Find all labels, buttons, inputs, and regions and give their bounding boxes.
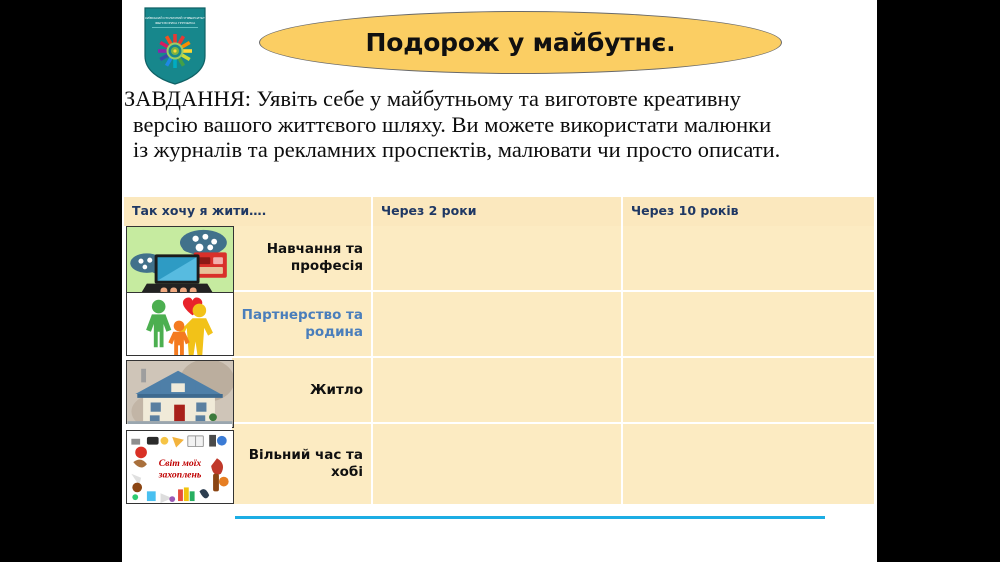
university-logo: КИЇВСЬКИЙ СТОЛИЧНИЙ УНІВЕРСИТЕТ ІМЕНІ БО… [142, 6, 208, 86]
svg-text:захоплень: захоплень [158, 470, 202, 481]
row-1-in-10-years[interactable] [623, 292, 874, 358]
table-row: Світ моїх захоплень Вільний час та хобі [124, 424, 874, 506]
row-0-in-2-years[interactable] [373, 226, 623, 292]
house-icon [127, 361, 233, 427]
hobby-collage-thumbnail: Світ моїх захоплень [126, 430, 234, 504]
house-thumbnail [126, 360, 234, 428]
table-header-cell-0: Так хочу я жити…. [124, 197, 373, 226]
slide-viewport: КИЇВСЬКИЙ СТОЛИЧНИЙ УНІВЕРСИТЕТ ІМЕНІ БО… [0, 0, 1000, 562]
row-image-cell-0 [124, 226, 232, 292]
bottom-accent-rule [235, 516, 825, 519]
table-row: Навчання та професія [124, 226, 874, 292]
page-title: Подорож у майбутнє. [366, 28, 676, 57]
presentation-slide: КИЇВСЬКИЙ СТОЛИЧНИЙ УНІВЕРСИТЕТ ІМЕНІ БО… [122, 0, 877, 562]
row-label-3: Вільний час та хобі [232, 424, 373, 506]
row-0-in-10-years[interactable] [623, 226, 874, 292]
row-2-in-2-years[interactable] [373, 358, 623, 424]
crest-icon: КИЇВСЬКИЙ СТОЛИЧНИЙ УНІВЕРСИТЕТ ІМЕНІ БО… [142, 6, 208, 86]
row-image-cell-2 [124, 358, 232, 424]
row-1-in-2-years[interactable] [373, 292, 623, 358]
task-line-2: версію вашого життєвого шляху. Ви можете… [124, 112, 866, 138]
svg-text:КИЇВСЬКИЙ СТОЛИЧНИЙ УНІВЕРСИТЕ: КИЇВСЬКИЙ СТОЛИЧНИЙ УНІВЕРСИТЕТ [145, 16, 205, 20]
slide-title-shape: Подорож у майбутнє. [259, 11, 782, 74]
svg-text:ІМЕНІ БОРИСА ГРІНЧЕНКА: ІМЕНІ БОРИСА ГРІНЧЕНКА [155, 21, 196, 25]
table-header-cell-1: Через 2 роки [373, 197, 623, 226]
hobby-collage-icon: Світ моїх захоплень [127, 431, 233, 503]
row-image-cell-3: Світ моїх захоплень [124, 424, 232, 506]
table-row: Житло [124, 358, 874, 424]
row-label-0: Навчання та професія [232, 226, 373, 292]
row-label-2: Житло [232, 358, 373, 424]
row-label-1: Партнерство та родина [232, 292, 373, 358]
task-line-3: із журналів та рекламних проспектів, мал… [124, 137, 866, 163]
row-3-in-2-years[interactable] [373, 424, 623, 506]
row-image-cell-1 [124, 292, 232, 358]
row-3-in-10-years[interactable] [623, 424, 874, 506]
task-paragraph: ЗАВДАННЯ: Уявіть себе у майбутньому та в… [124, 86, 866, 163]
row-2-in-10-years[interactable] [623, 358, 874, 424]
table-header-cell-2: Через 10 років [623, 197, 874, 226]
future-plan-table: Так хочу я жити…. Через 2 роки Через 10 … [124, 197, 874, 506]
task-line-1: ЗАВДАННЯ: Уявіть себе у майбутньому та в… [124, 86, 866, 112]
table-row: Партнерство та родина [124, 292, 874, 358]
table-header-row: Так хочу я жити…. Через 2 роки Через 10 … [124, 197, 874, 226]
family-figures-icon [127, 293, 233, 355]
svg-text:Світ моїх: Світ моїх [159, 458, 202, 469]
family-figures-thumbnail [126, 292, 234, 356]
